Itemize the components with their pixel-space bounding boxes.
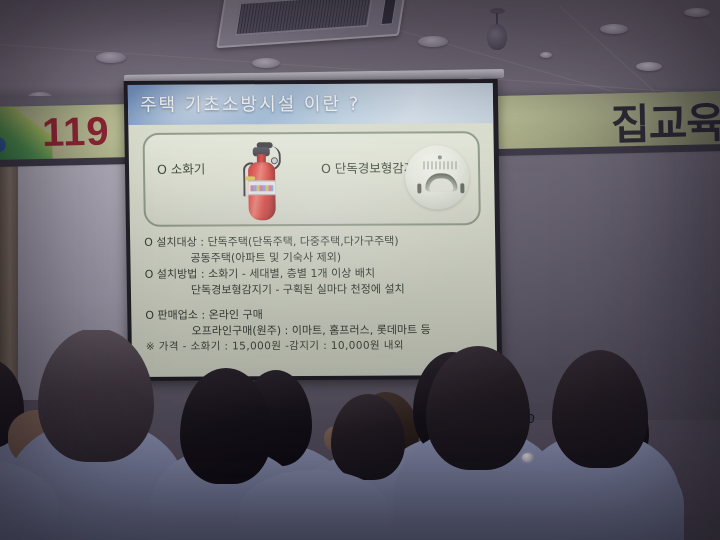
fire-extinguisher-icon [237, 140, 286, 226]
audience-head [426, 346, 530, 470]
downlight [418, 36, 448, 47]
photograph: 119 집교육 주택 기초소방시설 이란 ? O 소화기 [0, 0, 720, 540]
slide-text-line: O 판매업소 : 온라인 구매 [145, 306, 488, 324]
slide-header-bar: 주택 기초소방시설 이란 ? [128, 83, 494, 125]
downlight [600, 24, 628, 34]
slide-item-box: O 소화기 O 단독경보형감지기 [142, 131, 480, 227]
downlight [252, 58, 280, 68]
slide-text-line: 단독경보형감지기 - 구획된 실마다 천정에 설치 [145, 281, 488, 299]
downlight [540, 52, 552, 58]
audience-head [552, 350, 648, 468]
slide-text-line: 공동주택(아파트 및 기숙사 제외) [144, 249, 487, 267]
downlight [684, 8, 710, 17]
audience-head [38, 330, 154, 462]
hanging-light-fixture [486, 8, 508, 52]
downlight [96, 52, 126, 63]
ceiling-ac-unit [216, 0, 407, 48]
slide-title: 주택 기초소방시설 이란 ? [140, 90, 361, 117]
ac-grille [234, 0, 373, 36]
slide-text-line: O 설치대상 : 단독주택(단독주택, 다중주택,다가구주택) [144, 233, 487, 251]
slide-text-line: O 설치방법 : 소화기 - 세대별, 층별 1개 이상 배치 [145, 265, 488, 283]
downlight [636, 62, 662, 71]
banner-title-text: 집교육 [610, 91, 720, 153]
banner-emergency-number: 119 [42, 109, 110, 155]
slide-item-label-extinguisher: O 소화기 [157, 159, 206, 178]
ac-vent [380, 0, 398, 25]
smoke-detector-icon [401, 141, 474, 221]
audience [0, 330, 720, 540]
